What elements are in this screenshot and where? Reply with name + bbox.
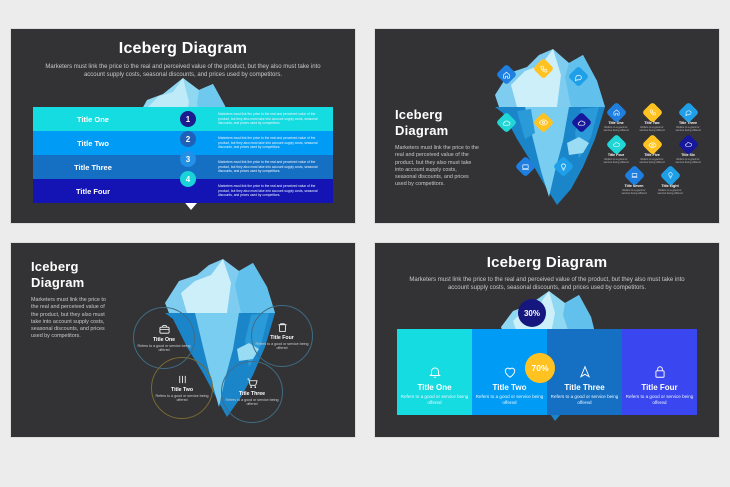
slide-4[interactable]: Iceberg Diagram Marketers must link the … [375,243,719,437]
legend-item[interactable]: Title Four Refers to a good or service b… [601,137,632,165]
legend-subtitle: Refers to a good or service being offere… [619,189,650,196]
legend-item[interactable]: Title One Refers to a good or service be… [601,105,632,133]
legend-item[interactable]: Title Two Refers to a good or service be… [637,105,668,133]
percent-badge-top[interactable]: 30% [518,299,546,327]
legend-row: Title Four Refers to a good or service b… [597,137,707,165]
step-number-badge[interactable]: 2 [180,131,196,147]
phone-icon [641,102,662,123]
chat-icon [677,102,698,123]
legend-row: Title One Refers to a good or service be… [597,105,707,133]
column-title: Title Three [564,383,604,392]
column-item[interactable]: Title Four Refers to a good or service b… [622,329,697,415]
slide4-header: Iceberg Diagram Marketers must link the … [375,253,719,292]
slide2-text-block: Iceberg Diagram Marketers must link the … [395,107,479,189]
legend-item[interactable]: Title Five Refers to a good or service b… [637,137,668,165]
band-paragraph: Marketers must link the price to the rea… [218,160,333,173]
legend-subtitle: Refers to a good or service being offere… [655,189,686,196]
page-title-line1: Iceberg [31,259,113,275]
step-number-badge[interactable]: 1 [180,111,196,127]
page-title: Iceberg Diagram [11,39,355,59]
legend-subtitle: Refers to a good or service being offere… [601,126,632,133]
eye-icon [641,133,662,154]
band-label: Title Two [33,139,153,148]
shopping-cart-icon [247,378,258,389]
bubble-title: Title Three [239,391,265,397]
home-icon [605,102,626,123]
cloud-icon [605,133,626,154]
bubble-item[interactable]: Title Four Refers to a good or service b… [251,305,313,367]
legend-item[interactable]: Title Seven Refers to a good or service … [619,168,650,196]
slide-2[interactable]: Iceberg Diagram Marketers must link the … [375,29,719,223]
laptop-icon [623,165,644,186]
legend-subtitle: Refers to a good or service being offere… [673,158,704,165]
band-label: Title Four [33,187,153,196]
briefcase-icon [159,324,170,335]
iceberg-illustration [491,47,613,207]
lock-icon [653,365,667,379]
slide-1[interactable]: Iceberg Diagram Marketers must link the … [11,29,355,223]
bubble-title: Title Four [270,335,294,341]
legend-item[interactable]: Title Three Refers to a good or service … [673,105,704,133]
column-subtitle: Refers to a good or service being offere… [547,394,622,406]
band-label: Title One [33,115,153,124]
legend-list: Title One Refers to a good or service be… [597,105,707,200]
column-item[interactable]: Title Three Refers to a good or service … [547,329,622,415]
legend-row: Title Seven Refers to a good or service … [597,168,707,196]
band-paragraph: Marketers must link the price to the rea… [218,136,333,149]
page-description: Marketers must link the price to the rea… [39,63,327,79]
bar-columns-icon [177,374,188,385]
percent-badge-bottom[interactable]: 70% [525,353,555,383]
column-title: Title Two [493,383,527,392]
column-item[interactable]: Title One Refers to a good or service be… [397,329,472,415]
trash-bin-icon [277,322,288,333]
page-description: Marketers must link the price to the rea… [31,297,113,341]
page-title-line1: Iceberg [395,107,479,123]
bubble-item[interactable]: Title Two Refers to a good or service be… [151,357,213,419]
page-title-line2: Diagram [395,123,479,139]
slide-3[interactable]: Iceberg Diagram Marketers must link the … [11,243,355,437]
slide3-text-block: Iceberg Diagram Marketers must link the … [31,259,113,341]
legend-item[interactable]: Title Six Refers to a good or service be… [673,137,704,165]
page-description: Marketers must link the price to the rea… [395,145,479,189]
bubble-item[interactable]: Title Three Refers to a good or service … [221,361,283,423]
band-paragraph: Marketers must link the price to the rea… [218,112,333,125]
legend-subtitle: Refers to a good or service being offere… [673,126,704,133]
column-subtitle: Refers to a good or service being offere… [622,394,697,406]
bell-icon [428,365,442,379]
column-title: Title One [417,383,451,392]
legend-subtitle: Refers to a good or service being offere… [637,158,668,165]
bubble-subtitle: Refers to a good or service being offere… [152,394,212,403]
page-title: Iceberg Diagram [375,253,719,272]
legend-subtitle: Refers to a good or service being offere… [601,158,632,165]
slide1-header: Iceberg Diagram Marketers must link the … [11,39,355,79]
step-number-badge[interactable]: 4 [180,171,196,187]
bubble-subtitle: Refers to a good or service being offere… [222,398,282,407]
navigation-icon [578,365,592,379]
legend-item[interactable]: Title Eight Refers to a good or service … [655,168,686,196]
legend-subtitle: Refers to a good or service being offere… [637,126,668,133]
column-subtitle: Refers to a good or service being offere… [397,394,472,406]
slide-grid: Iceberg Diagram Marketers must link the … [0,0,730,487]
page-title-line2: Diagram [31,275,113,291]
column-subtitle: Refers to a good or service being offere… [472,394,547,406]
heart-icon [503,365,517,379]
band-label: Title Three [33,163,153,172]
band-paragraph: Marketers must link the price to the rea… [218,184,333,197]
page-description: Marketers must link the price to the rea… [405,276,689,292]
bulb-icon [659,165,680,186]
bubble-subtitle: Refers to a good or service being offere… [134,344,194,353]
cloud-upload-icon [677,133,698,154]
bubble-subtitle: Refers to a good or service being offere… [252,342,312,351]
column-title: Title Four [641,383,677,392]
bubble-title: Title One [153,337,175,343]
step-number-list: 1 2 3 4 [175,107,201,191]
bubble-title: Title Two [171,387,193,393]
step-number-badge[interactable]: 3 [180,151,196,167]
